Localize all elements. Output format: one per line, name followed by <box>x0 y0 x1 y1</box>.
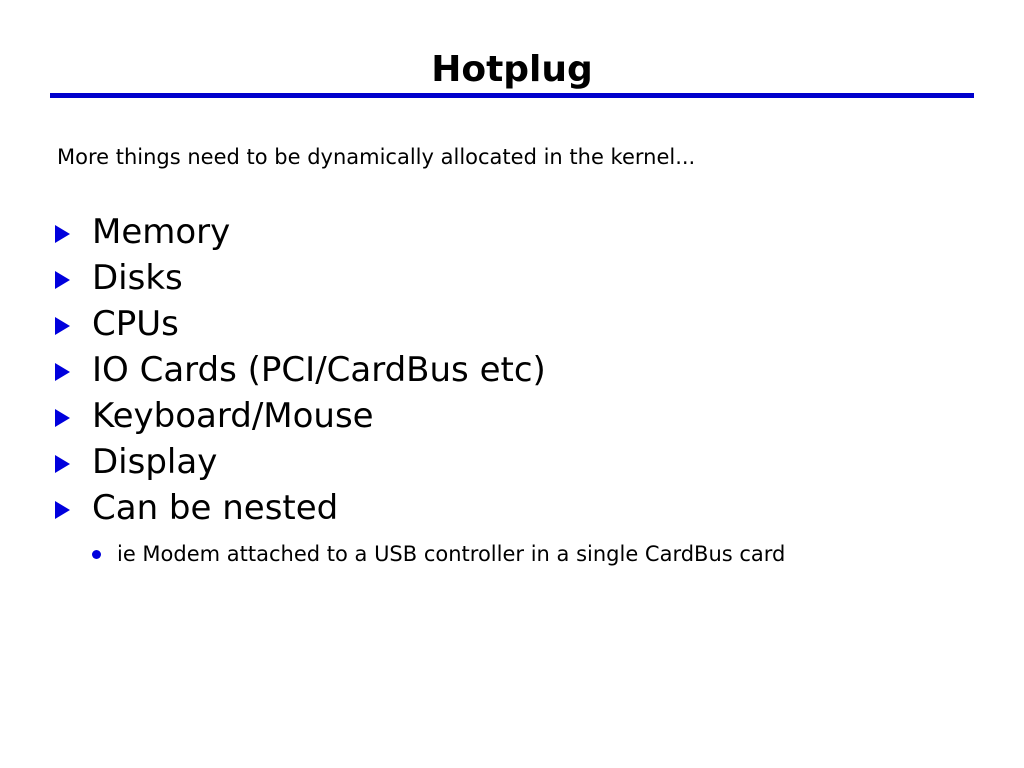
list-item-label: Keyboard/Mouse <box>92 393 374 439</box>
triangle-right-bullet-icon <box>55 225 70 243</box>
triangle-right-bullet-icon <box>55 271 70 289</box>
list-item-label: IO Cards (PCI/CardBus etc) <box>92 347 546 393</box>
list-item: CPUs <box>52 301 992 347</box>
list-item-label: CPUs <box>92 301 179 347</box>
list-item: Display <box>52 439 992 485</box>
sub-list-item-label: ie Modem attached to a USB controller in… <box>117 535 785 574</box>
round-bullet-icon <box>92 550 101 559</box>
triangle-right-bullet-icon <box>55 455 70 473</box>
list-item-label: Memory <box>92 209 230 255</box>
subtitle-text: More things need to be dynamically alloc… <box>57 143 957 171</box>
triangle-right-bullet-icon <box>55 363 70 381</box>
list-item-label: Can be nested <box>92 485 338 531</box>
list-item: IO Cards (PCI/CardBus etc) <box>52 347 992 393</box>
list-item: Keyboard/Mouse <box>52 393 992 439</box>
sub-list-item: ie Modem attached to a USB controller in… <box>88 535 908 574</box>
list-item: Can be nested <box>52 485 992 531</box>
list-item: Disks <box>52 255 992 301</box>
slide-canvas: Hotplug More things need to be dynamical… <box>0 0 1024 768</box>
triangle-right-bullet-icon <box>55 409 70 427</box>
page-title: Hotplug <box>0 48 1024 92</box>
list-item: Memory <box>52 209 992 255</box>
title-divider-rule <box>50 93 974 98</box>
main-bullet-list: Memory Disks CPUs IO Cards (PCI/CardBus … <box>52 209 992 531</box>
list-item-label: Display <box>92 439 217 485</box>
triangle-right-bullet-icon <box>55 317 70 335</box>
list-item-label: Disks <box>92 255 183 301</box>
sub-bullet-list: ie Modem attached to a USB controller in… <box>88 535 908 574</box>
triangle-right-bullet-icon <box>55 501 70 519</box>
